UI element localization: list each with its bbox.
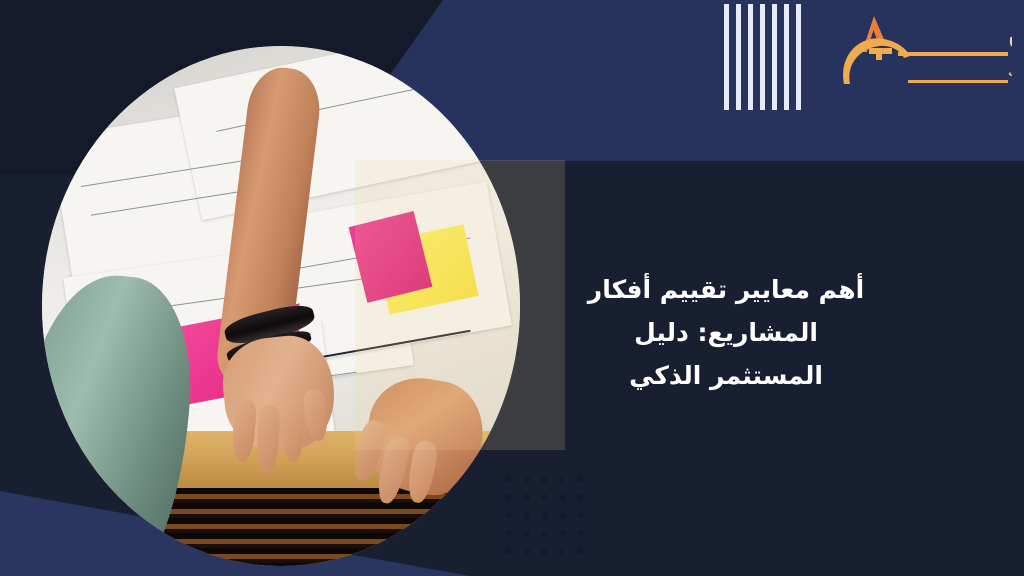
grid-dot xyxy=(505,530,512,537)
grid-dot xyxy=(541,512,548,519)
grid-dot xyxy=(505,476,512,483)
logo-divider-bottom xyxy=(908,80,1008,83)
grid-dot xyxy=(577,548,584,555)
logo-brand-name: معوان xyxy=(1008,17,1012,52)
grid-dot xyxy=(541,494,548,501)
grid-dot xyxy=(523,494,530,501)
grid-dot xyxy=(559,548,566,555)
page-title-line-1: أهم معايير تقييم أفكار المشاريع: دليل xyxy=(530,268,922,354)
vertical-bar xyxy=(736,4,741,110)
grid-dot xyxy=(577,494,584,501)
grid-dot xyxy=(577,530,584,537)
logo-a-mark xyxy=(843,16,910,84)
vertical-bar xyxy=(760,4,765,110)
grid-dot xyxy=(559,530,566,537)
grid-dot xyxy=(541,530,548,537)
grid-dot xyxy=(523,512,530,519)
vertical-bar xyxy=(724,4,729,110)
brand-logo[interactable]: معوان لخدمات رجال الاعمال xyxy=(836,4,1012,96)
dot-grid-decoration xyxy=(505,476,595,566)
page-title: أهم معايير تقييم أفكار المشاريع: دليل ال… xyxy=(530,268,922,397)
vertical-bars-decoration xyxy=(724,4,801,110)
grid-dot xyxy=(559,512,566,519)
vertical-bar xyxy=(784,4,789,110)
grid-dot xyxy=(577,476,584,483)
grid-dot xyxy=(523,530,530,537)
hero-photo xyxy=(42,46,520,566)
grid-dot xyxy=(505,512,512,519)
hero-photo-image xyxy=(42,46,520,566)
banner-canvas: معوان لخدمات رجال الاعمال أهم معايير تقي… xyxy=(0,0,1024,576)
vertical-bar xyxy=(796,4,801,110)
grid-dot xyxy=(523,548,530,555)
grid-dot xyxy=(505,548,512,555)
logo-divider-top xyxy=(898,52,1008,56)
grid-dot xyxy=(559,476,566,483)
grid-dot xyxy=(541,476,548,483)
grid-dot xyxy=(541,548,548,555)
page-title-line-2: المستثمر الذكي xyxy=(530,354,922,397)
vertical-bar xyxy=(748,4,753,110)
vertical-bar xyxy=(772,4,777,110)
grid-dot xyxy=(577,512,584,519)
grid-dot xyxy=(523,476,530,483)
grid-dot xyxy=(559,494,566,501)
grid-dot xyxy=(505,494,512,501)
logo-tagline: لخدمات رجال الاعمال xyxy=(1008,63,1012,77)
